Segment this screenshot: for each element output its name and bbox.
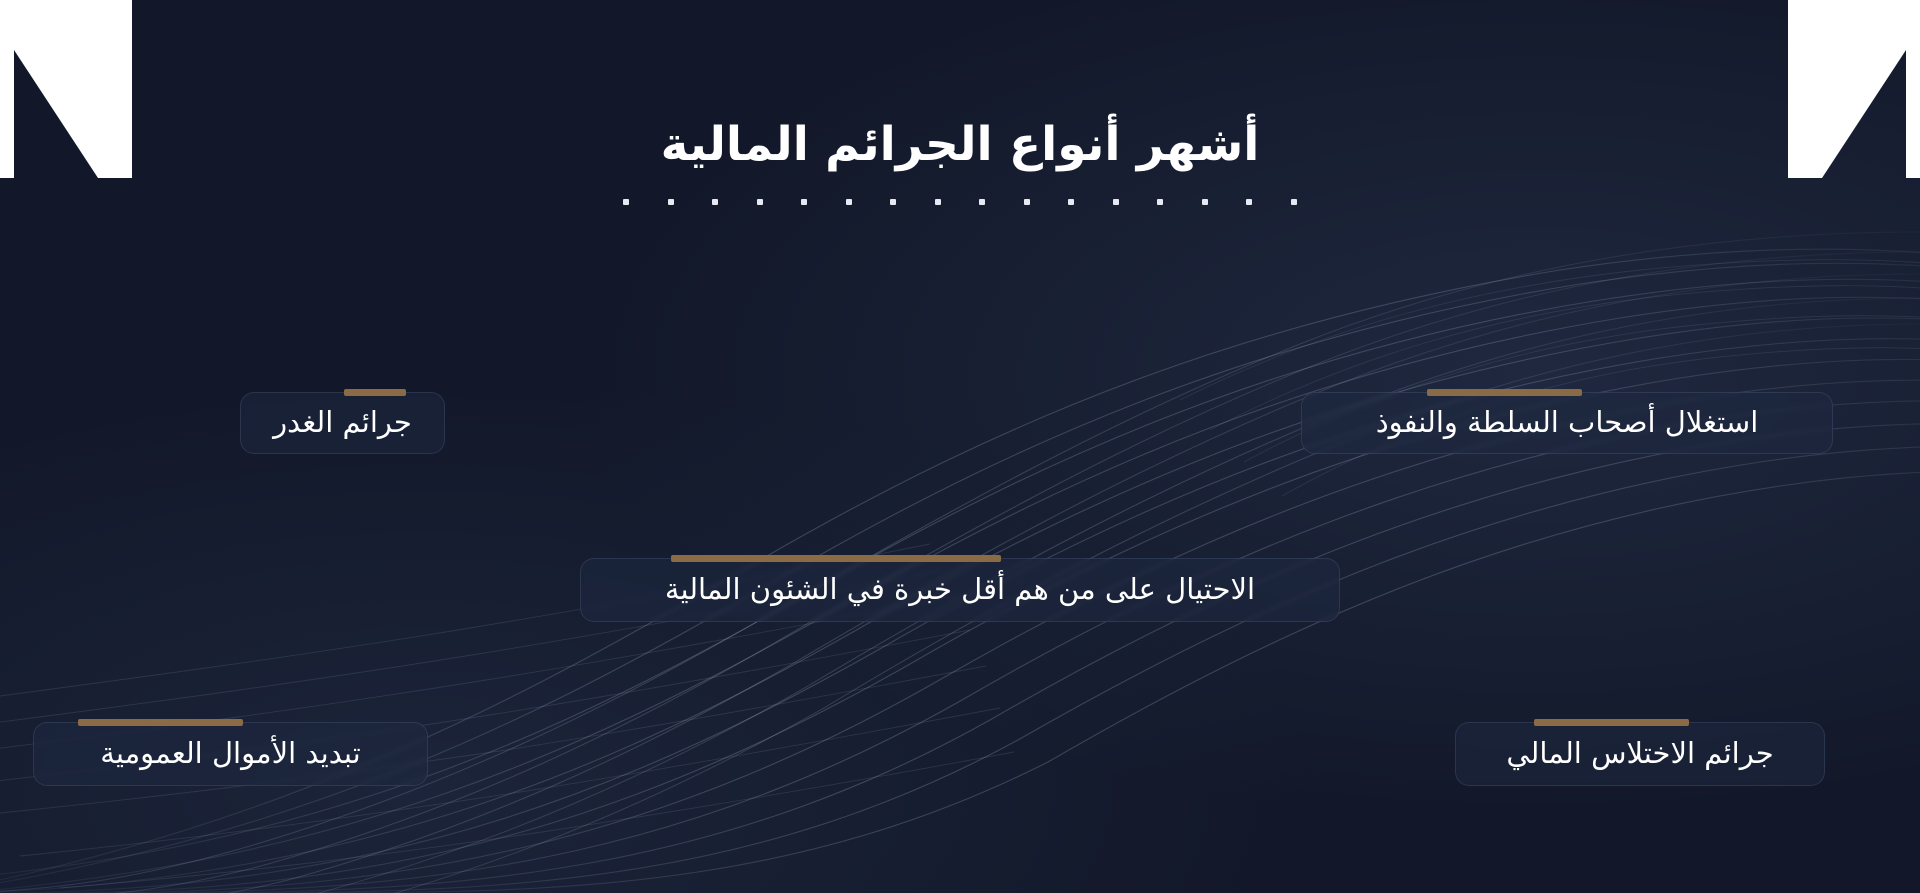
card-accent-bar [671, 555, 1001, 562]
divider-dot [668, 199, 674, 205]
crime-card-label: جرائم الاختلاس المالي [1506, 734, 1773, 773]
divider-dot [623, 199, 629, 205]
crime-card-financial-fraud[interactable]: الاحتيال على من هم أقل خبرة في الشئون ال… [580, 558, 1340, 622]
divider-dot [979, 199, 985, 205]
crime-card-label: استغلال أصحاب السلطة والنفوذ [1376, 403, 1759, 442]
card-accent-bar [1427, 389, 1582, 396]
divider-dot [1157, 199, 1163, 205]
page-title: أشهر أنواع الجرائم المالية [0, 0, 1920, 173]
crime-card-label: الاحتيال على من هم أقل خبرة في الشئون ال… [665, 570, 1255, 609]
crime-card-public-funds-waste[interactable]: تبديد الأموال العمومية [33, 722, 428, 786]
card-accent-bar [1534, 719, 1689, 726]
crime-card-label: جرائم الغدر [273, 403, 412, 442]
slide-canvas: أشهر أنواع الجرائم المالية جرائم الغدر ا… [0, 0, 1920, 893]
crime-card-abuse-of-power[interactable]: استغلال أصحاب السلطة والنفوذ [1301, 392, 1833, 454]
divider-dot [1024, 199, 1030, 205]
crime-card-treachery[interactable]: جرائم الغدر [240, 392, 445, 454]
slide-header: أشهر أنواع الجرائم المالية [0, 0, 1920, 205]
divider-dot [1068, 199, 1074, 205]
divider-dot [1113, 199, 1119, 205]
divider-dot [1291, 199, 1297, 205]
divider-dot [712, 199, 718, 205]
card-accent-bar [344, 389, 406, 396]
dot-divider [610, 199, 1310, 205]
crime-card-label: تبديد الأموال العمومية [100, 734, 360, 773]
divider-dot [801, 199, 807, 205]
divider-dot [1246, 199, 1252, 205]
card-accent-bar [78, 719, 243, 726]
crime-card-embezzlement[interactable]: جرائم الاختلاس المالي [1455, 722, 1825, 786]
divider-dot [1202, 199, 1208, 205]
divider-dot [890, 199, 896, 205]
divider-dot [846, 199, 852, 205]
divider-dot [935, 199, 941, 205]
divider-dot [757, 199, 763, 205]
